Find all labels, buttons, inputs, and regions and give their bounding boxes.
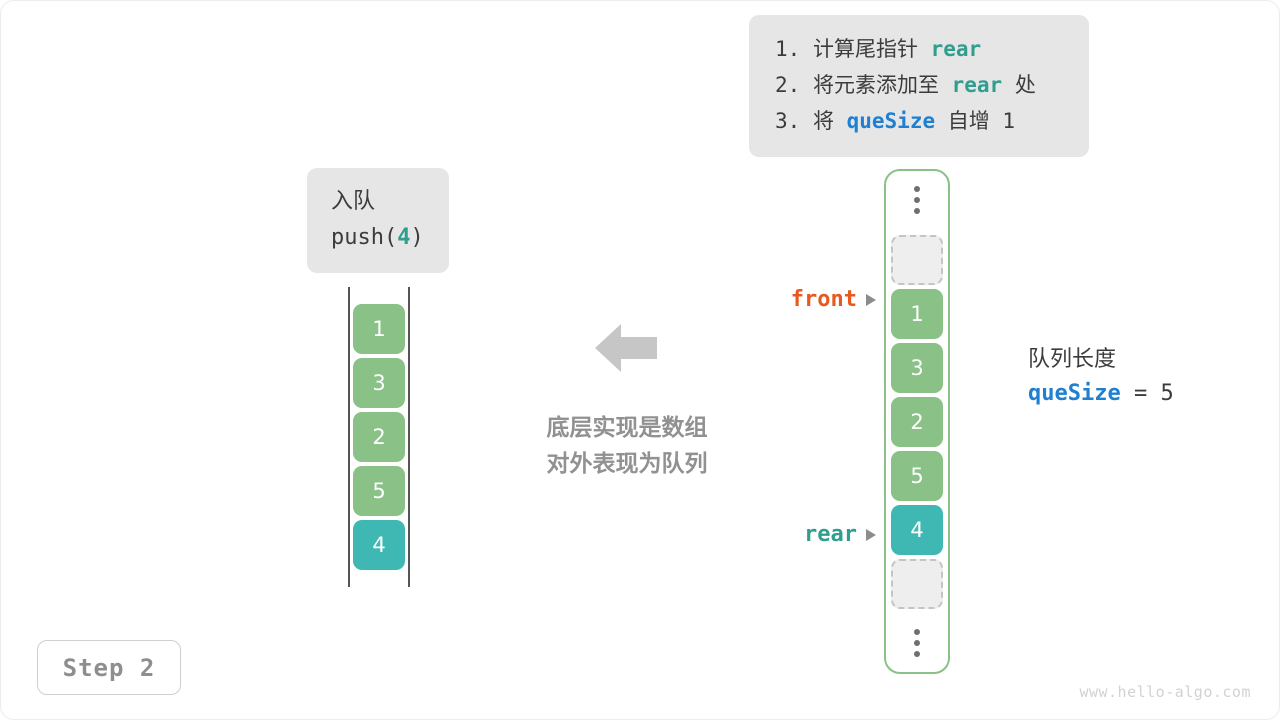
queue-size-value: queSize = 5 — [1028, 376, 1174, 411]
operation-title: 入队 — [307, 184, 449, 220]
instruction-2-suffix: 处 — [1002, 73, 1036, 97]
arrowhead-right-icon — [866, 294, 876, 306]
ellipsis-top-icon — [914, 183, 920, 217]
step-badge: Step 2 — [37, 640, 181, 695]
array-cell: 1 — [891, 289, 943, 339]
queue-rail-right — [408, 287, 410, 587]
queue-cell: 2 — [353, 412, 405, 462]
array-container: 13254 — [884, 169, 950, 674]
caption-line-2: 对外表现为队列 — [509, 445, 745, 481]
operation-call-prefix: push( — [331, 225, 397, 250]
instruction-3-suffix: 自增 1 — [935, 109, 1015, 133]
queue-size-title: 队列长度 — [1028, 341, 1174, 376]
array-cell-list: 13254 — [891, 235, 943, 609]
instruction-line-2: 2. 将元素添加至 rear 处 — [775, 67, 1063, 103]
array-cell: 5 — [891, 451, 943, 501]
pointer-front-label: front — [791, 287, 857, 312]
arrowhead-right-icon — [866, 529, 876, 541]
instruction-2-index: 2. — [775, 73, 800, 97]
watermark: www.hello-algo.com — [1079, 683, 1251, 701]
instruction-line-3: 3. 将 queSize 自增 1 — [775, 103, 1063, 139]
pointer-rear: rear — [701, 522, 876, 547]
instruction-line-1: 1. 计算尾指针 rear — [775, 31, 1063, 67]
array-empty-slot — [891, 235, 943, 285]
instruction-1-index: 1. — [775, 37, 800, 61]
queue-rail-left — [348, 287, 350, 587]
pointer-rear-label: rear — [804, 522, 857, 547]
ellipsis-bottom-icon — [914, 626, 920, 660]
operation-call: push(4) — [307, 220, 449, 256]
instruction-3-text: 将 — [813, 109, 847, 133]
queue-cell-list: 13254 — [353, 304, 405, 570]
instruction-panel: 1. 计算尾指针 rear 2. 将元素添加至 rear 处 3. 将 queS… — [749, 15, 1089, 157]
array-cell: 3 — [891, 343, 943, 393]
pointer-front: front — [701, 287, 876, 312]
queue-size-equals: = — [1121, 381, 1161, 406]
operation-call-argument: 4 — [397, 225, 410, 250]
diagram-canvas: 1. 计算尾指针 rear 2. 将元素添加至 rear 处 3. 将 queS… — [0, 0, 1280, 720]
operation-panel: 入队 push(4) — [307, 168, 449, 273]
queue-cell: 5 — [353, 466, 405, 516]
queue-abstract-view: 13254 — [348, 287, 410, 587]
queue-size-number: 5 — [1160, 381, 1173, 406]
queue-size-variable: queSize — [1028, 381, 1121, 406]
left-arrow-icon — [595, 321, 657, 375]
array-cell: 4 — [891, 505, 943, 555]
array-empty-slot — [891, 559, 943, 609]
queue-cell: 3 — [353, 358, 405, 408]
instruction-1-keyword: rear — [931, 37, 982, 61]
queue-cell: 4 — [353, 520, 405, 570]
instruction-1-text: 计算尾指针 — [813, 37, 931, 61]
instruction-3-index: 3. — [775, 109, 800, 133]
instruction-2-keyword: rear — [952, 73, 1003, 97]
instruction-3-keyword: queSize — [847, 109, 936, 133]
explanation-caption: 底层实现是数组 对外表现为队列 — [509, 409, 745, 482]
queue-size-note: 队列长度 queSize = 5 — [1028, 341, 1174, 411]
instruction-2-text: 将元素添加至 — [813, 73, 952, 97]
queue-cell: 1 — [353, 304, 405, 354]
array-cell: 2 — [891, 397, 943, 447]
caption-line-1: 底层实现是数组 — [509, 409, 745, 445]
operation-call-suffix: ) — [410, 225, 423, 250]
